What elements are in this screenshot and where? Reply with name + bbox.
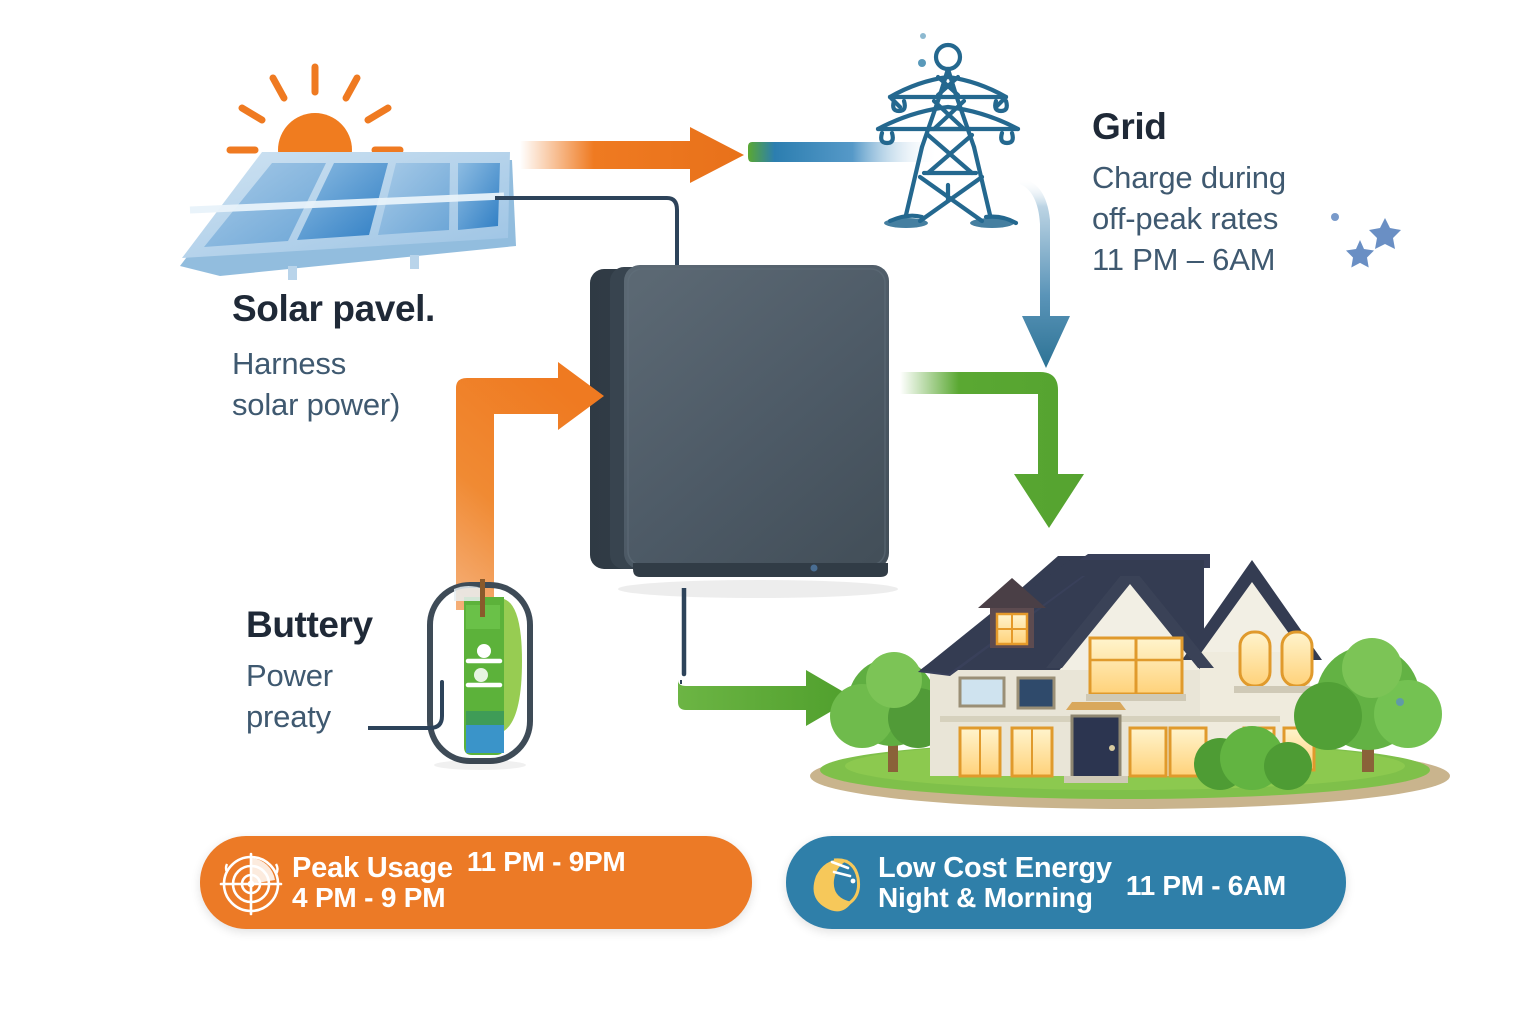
battery-description: Power preaty bbox=[246, 656, 373, 738]
star-decoration-group bbox=[1330, 200, 1450, 295]
peak-usage-title: Peak Usage bbox=[292, 853, 453, 883]
solar-description: Harness solar power) bbox=[232, 344, 435, 426]
radar-gauge-icon bbox=[218, 850, 284, 916]
grid-desc-line-1: Charge during bbox=[1092, 158, 1286, 199]
peak-usage-text: Peak Usage 4 PM - 9 PM bbox=[292, 853, 453, 912]
low-cost-energy-time: 11 PM - 6AM bbox=[1126, 870, 1286, 902]
flow-unit-to-house-arrow bbox=[900, 370, 1100, 545]
peak-usage-badge[interactable]: Peak Usage 4 PM - 9 PM 11 PM - 9PM bbox=[200, 836, 752, 929]
solar-node-text: Solar pavel. Harness solar power) bbox=[232, 288, 435, 426]
grid-desc-line-3: 11 PM – 6AM bbox=[1092, 240, 1286, 281]
grid-description: Charge during off-peak rates 11 PM – 6AM bbox=[1092, 158, 1286, 281]
solar-title: Solar pavel. bbox=[232, 288, 435, 330]
battery-node-text: Buttery Power preaty bbox=[246, 604, 373, 738]
peak-usage-subtitle: 4 PM - 9 PM bbox=[292, 883, 453, 912]
grid-node-text: Grid Charge during off-peak rates 11 PM … bbox=[1092, 106, 1286, 281]
low-cost-energy-subtitle: Night & Morning bbox=[878, 883, 1112, 912]
battery-desc-line-2: preaty bbox=[246, 697, 373, 738]
infographic-canvas: Solar pavel. Harness solar power) bbox=[0, 0, 1536, 1024]
moon-icon bbox=[804, 850, 870, 916]
battery-callout-connector bbox=[368, 680, 458, 745]
star-icon bbox=[1369, 218, 1401, 249]
battery-desc-line-1: Power bbox=[246, 656, 373, 697]
low-cost-energy-text: Low Cost Energy Night & Morning bbox=[878, 853, 1112, 912]
flow-solar-to-grid-arrow bbox=[520, 125, 750, 190]
low-cost-energy-badge[interactable]: Low Cost Energy Night & Morning 11 PM - … bbox=[786, 836, 1346, 929]
house-icon bbox=[800, 520, 1460, 810]
battery-title: Buttery bbox=[246, 604, 373, 646]
star-icon bbox=[1346, 240, 1374, 268]
solar-desc-line-2: solar power) bbox=[232, 385, 435, 426]
low-cost-energy-title: Low Cost Energy bbox=[878, 853, 1112, 883]
flow-grid-to-house-arrow bbox=[1012, 178, 1102, 383]
peak-usage-time: 11 PM - 9PM bbox=[467, 846, 626, 878]
solar-desc-line-1: Harness bbox=[232, 344, 435, 385]
grid-title: Grid bbox=[1092, 106, 1286, 148]
grid-desc-line-2: off-peak rates bbox=[1092, 199, 1286, 240]
solar-panel-icon bbox=[160, 50, 540, 290]
